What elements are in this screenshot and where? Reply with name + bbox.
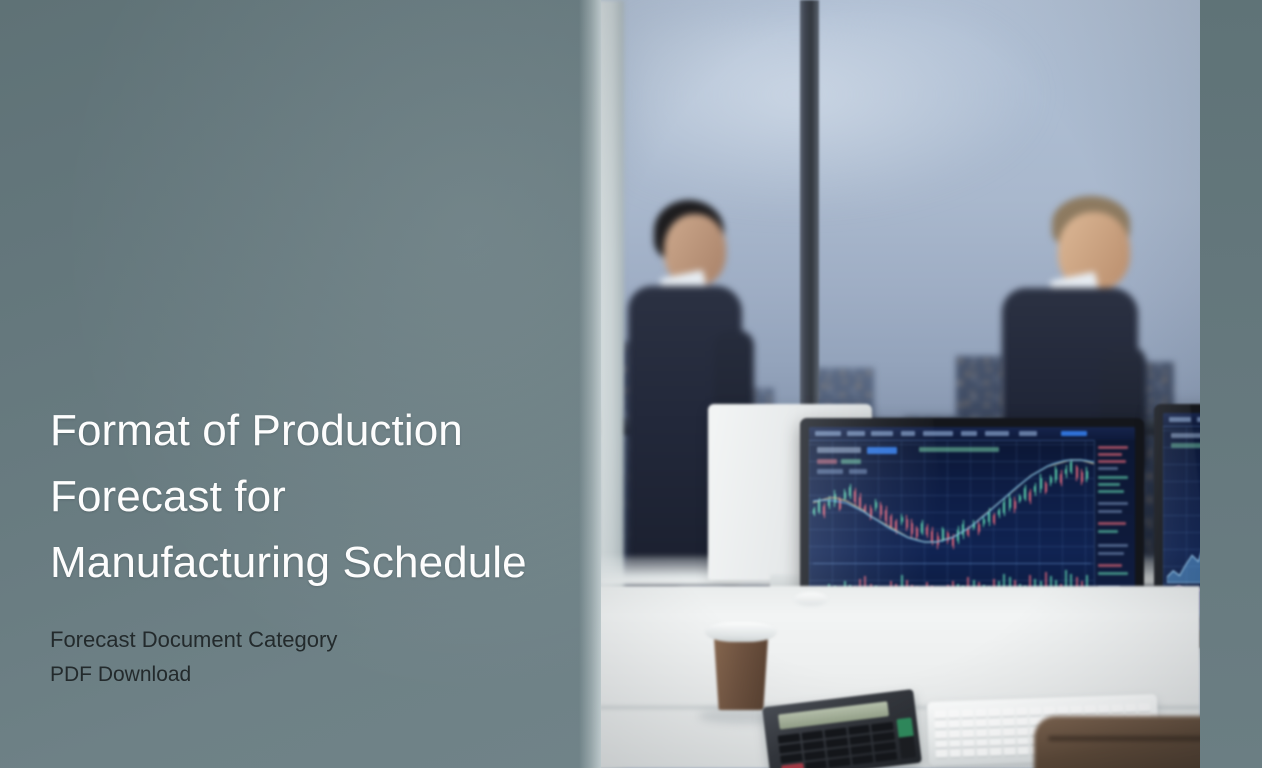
hero-photo <box>598 0 1200 768</box>
quote-readout <box>919 447 999 452</box>
coffee-cup <box>710 622 772 718</box>
chair-seam <box>1048 736 1200 741</box>
volume-divider <box>813 563 1091 564</box>
secondary-toolbar[interactable] <box>1163 413 1200 427</box>
chair-backrest <box>1034 716 1200 768</box>
window-mullion <box>800 0 819 420</box>
title-block: Format of Production Forecast for Manufa… <box>50 398 555 692</box>
terminal-toolbar[interactable] <box>809 427 1135 441</box>
moving-average-line <box>813 453 1109 549</box>
office-chair <box>1034 716 1200 768</box>
order-book-panel[interactable] <box>1094 440 1135 607</box>
secondary-area-chart <box>1167 473 1200 583</box>
desk-object <box>794 592 828 606</box>
cup-lid <box>705 622 777 642</box>
document-category: Forecast Document Category <box>50 622 555 658</box>
panel-edge-highlight <box>579 0 601 768</box>
cup-body <box>710 634 772 710</box>
title-panel: Format of Production Forecast for Manufa… <box>0 0 601 768</box>
page-title: Format of Production Forecast for Manufa… <box>50 398 555 596</box>
slide-canvas: Format of Production Forecast for Manufa… <box>0 0 1262 768</box>
right-slate-strip <box>1200 0 1262 768</box>
download-label[interactable]: PDF Download <box>50 658 555 692</box>
